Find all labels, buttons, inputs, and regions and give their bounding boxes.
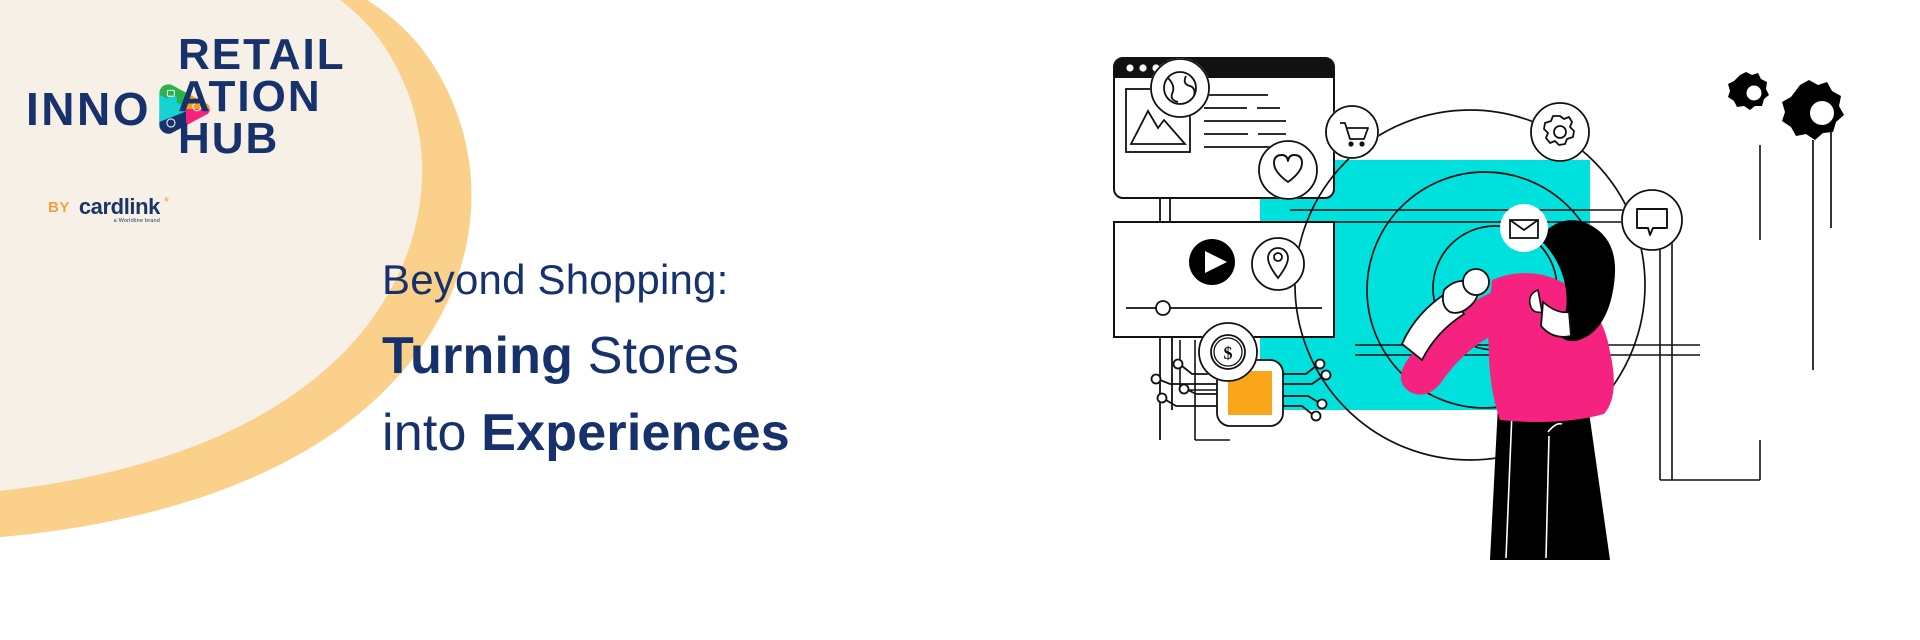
- headline-line-2: Turning Stores: [382, 322, 790, 391]
- byline-by-label: BY: [48, 199, 70, 216]
- byline-cardlink: BY cardlink * a Worldline brand: [48, 196, 160, 219]
- play-button-icon[interactable]: [1189, 239, 1235, 285]
- browser-window-card: [1114, 58, 1334, 222]
- headline-line-1: Beyond Shopping:: [382, 252, 790, 308]
- person-fingertip: [1463, 269, 1489, 295]
- shopping-cart-icon[interactable]: [1325, 105, 1379, 159]
- small-gear-icon: [1728, 72, 1769, 110]
- banner-root: INNO: [0, 0, 1920, 640]
- browser-dot: [1139, 64, 1146, 71]
- brand-stacked-words: RETAIL ATION HUB: [178, 34, 346, 161]
- browser-stand: [1160, 198, 1170, 222]
- chat-bubble-icon[interactable]: [1621, 189, 1683, 251]
- retail-technology-illustration: $: [1100, 40, 1900, 600]
- byline-company-wrap: cardlink * a Worldline brand: [79, 196, 160, 219]
- dollar-coin-icon[interactable]: $: [1198, 322, 1258, 382]
- svg-text:$: $: [1224, 343, 1233, 363]
- gears-group: [1728, 72, 1844, 370]
- brand-word-hub: HUB: [178, 118, 346, 160]
- envelope-icon[interactable]: [1500, 204, 1548, 252]
- brand-lockup: INNO: [26, 18, 336, 218]
- globe-icon[interactable]: [1150, 58, 1210, 118]
- headline-block: Beyond Shopping: Turning Stores into Exp…: [382, 252, 790, 468]
- person-skirt: [1490, 398, 1610, 560]
- headline-line-3-bold: Experiences: [481, 404, 790, 462]
- gear-stems: [1813, 132, 1831, 370]
- gear-badge-icon[interactable]: [1530, 102, 1590, 162]
- byline-star-icon: *: [164, 194, 169, 209]
- headline-line-3: into Experiences: [382, 399, 790, 468]
- byline-company-name: cardlink: [79, 194, 160, 219]
- headline-line-2-bold: Turning: [382, 327, 573, 385]
- byline-tagline: a Worldline brand: [114, 218, 160, 224]
- location-pin-icon[interactable]: [1251, 237, 1305, 291]
- video-stand: [1160, 337, 1172, 440]
- brand-word-ation: ATION: [178, 76, 346, 118]
- brand-word-retail: RETAIL: [178, 34, 346, 76]
- progress-slider-handle: [1156, 301, 1170, 315]
- browser-dot: [1126, 64, 1133, 71]
- heart-icon[interactable]: [1258, 140, 1318, 200]
- large-gear-icon: [1782, 80, 1844, 140]
- brand-word-inno: INNO: [26, 86, 151, 132]
- headline-line-2-rest: Stores: [573, 327, 739, 385]
- headline-line-3-rest: into: [382, 404, 481, 462]
